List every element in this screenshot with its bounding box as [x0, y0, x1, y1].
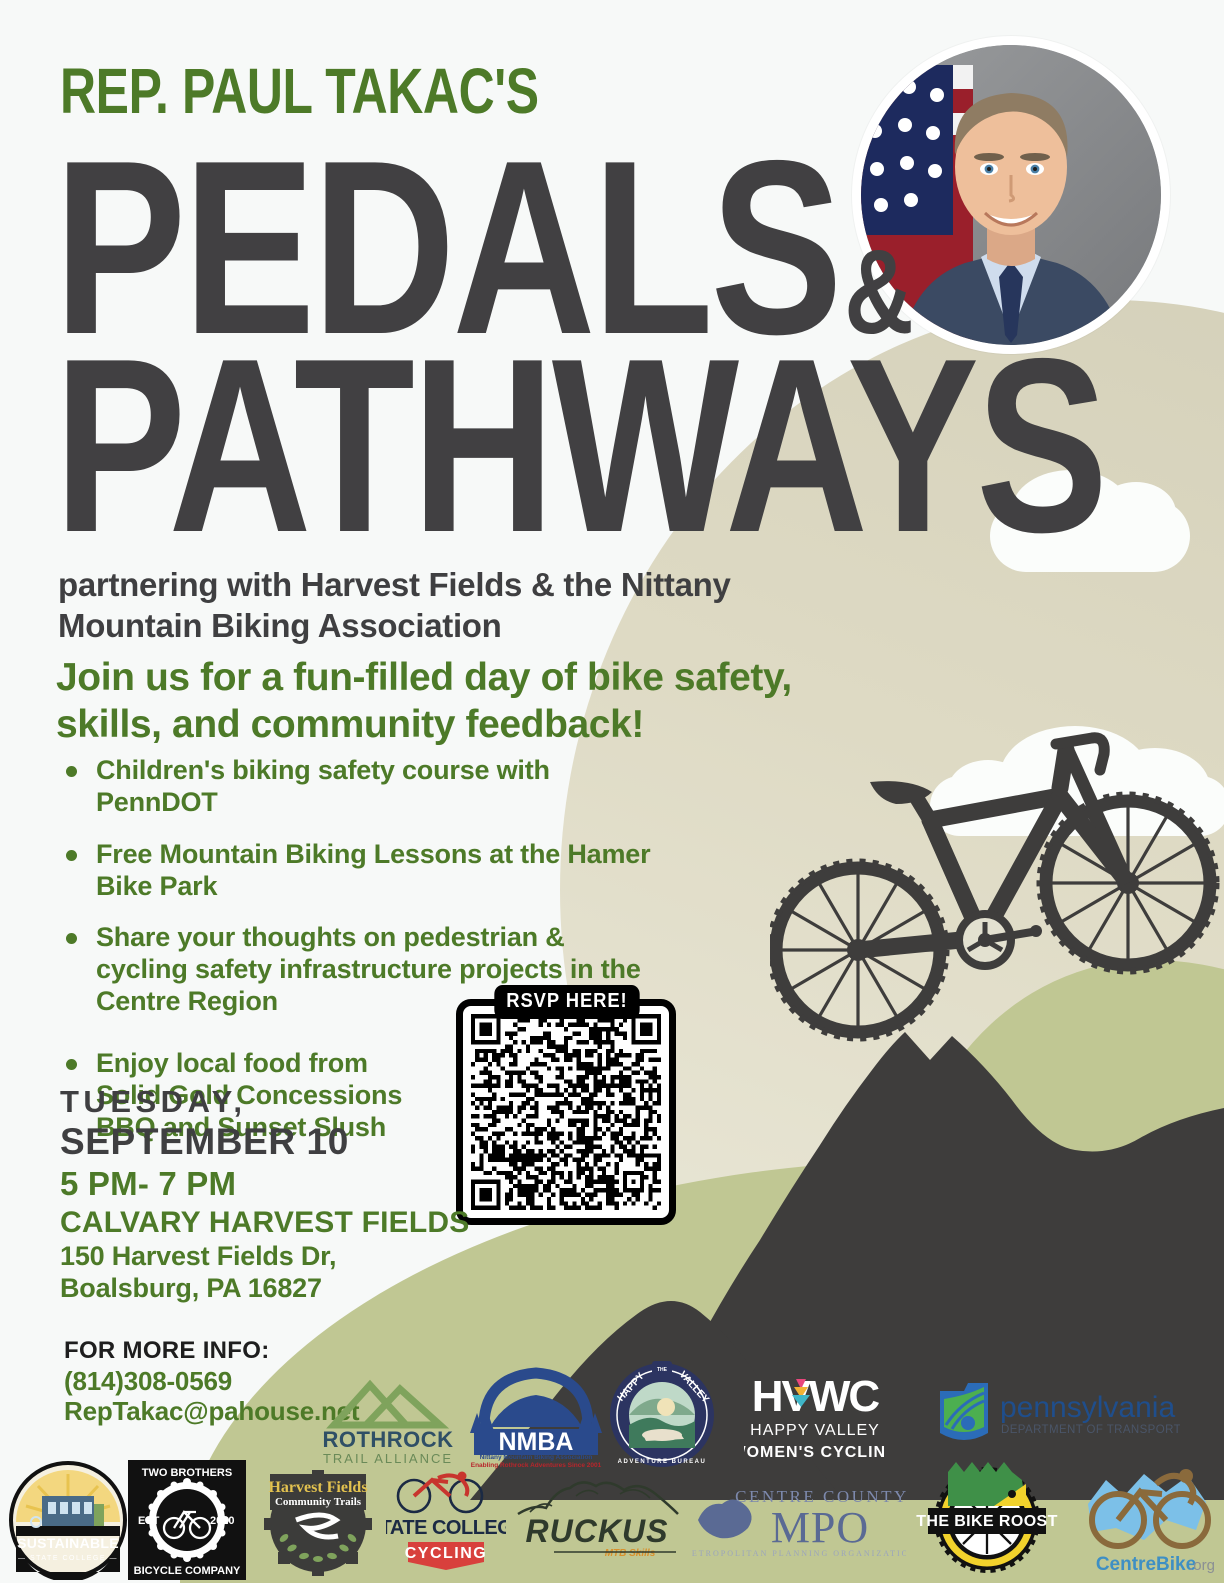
logo-tbbc-est-year: 2020 — [210, 1515, 234, 1527]
partnering-text: partnering with Harvest Fields & the Nit… — [58, 565, 858, 647]
address-line-2: Boalsburg, PA 16827 — [60, 1273, 500, 1305]
title-line-2: PATHWAYS — [54, 346, 1105, 544]
logo-penndot-name: pennsylvania — [1000, 1391, 1175, 1424]
logo-centrebike: CentreBike .org — [1070, 1458, 1222, 1580]
logo-nmba: NMBA Nittany Mountain Biking Association… — [466, 1361, 606, 1469]
logo-centrebike-tld: .org — [1189, 1557, 1215, 1574]
event-datetime: TUESDAY, SEPTEMBER 10 5 PM- 7 PM — [60, 1082, 490, 1207]
sponsor-row-top: ROTHROCK TRAIL ALLIANCE NMBA Nittany Mou… — [0, 1355, 1224, 1475]
logo-happy-valley-adventure-bureau: THE HAPPY VALLEY ADVENTURE BUREAU — [604, 1355, 720, 1471]
logo-hvab-top: THE — [657, 1367, 668, 1373]
logo-harvest-fields-community-trails: Harvest Fields Community Trails — [256, 1466, 380, 1576]
logo-state-college-cycling: STATE COLLEGE CYCLING — [386, 1470, 506, 1574]
logo-scc-name: STATE COLLEGE — [386, 1517, 506, 1539]
address-line-1: 150 Harvest Fields Dr, — [60, 1241, 500, 1273]
logo-ssc-name: SUSTAINABLE — [17, 1535, 119, 1551]
logo-tbbc-top: TWO BROTHERS — [142, 1467, 232, 1479]
logo-rothrock: ROTHROCK TRAIL ALLIANCE — [308, 1367, 468, 1467]
logo-hfct-name: Harvest Fields — [268, 1479, 367, 1496]
join-us-text: Join us for a fun-filled day of bike saf… — [56, 655, 886, 749]
logo-tbbc-bottom: BICYCLE COMPANY — [134, 1565, 241, 1577]
event-time: 5 PM- 7 PM — [60, 1162, 490, 1207]
page-title: PEDALS& PATHWAYS — [54, 148, 1224, 545]
logo-two-brothers-bicycle-company: TWO BROTHERS BICYCLE COMPANY EST 2020 — [128, 1460, 246, 1580]
logo-ruckus-name: RUCKUS — [526, 1513, 669, 1549]
logo-hvwc-line-1: HAPPY VALLEY — [750, 1422, 880, 1439]
logo-tbbc-est-label: EST — [138, 1515, 160, 1527]
venue-name: CALVARY HARVEST FIELDS — [60, 1205, 500, 1241]
event-day: TUESDAY, — [60, 1082, 490, 1122]
sponsor-row-bottom: SUSTAINABLE — STATE COLLEGE — — [0, 1458, 1224, 1583]
logo-mpo-tagline: METROPOLITAN PLANNING ORGANIZATION — [690, 1549, 906, 1558]
logo-hvwc: HVWC HAPPY VALLEY WOMEN'S CYCLING — [744, 1367, 886, 1467]
logo-sustainable-state-college: SUSTAINABLE — STATE COLLEGE — — [8, 1460, 128, 1580]
logo-ssc-tagline: — STATE COLLEGE — — [18, 1555, 118, 1562]
logo-ruckus: RUCKUS MTB Skills — [512, 1476, 682, 1566]
list-item: Free Mountain Biking Lessons at the Hame… — [58, 839, 658, 903]
logo-ruckus-tagline: MTB Skills — [605, 1548, 656, 1559]
logo-centrebike-name: CentreBike — [1096, 1554, 1196, 1575]
list-item: Share your thoughts on pedestrian & cycl… — [58, 922, 658, 1018]
logo-penndot: pennsylvania DEPARTMENT OF TRANSPORTATIO… — [930, 1375, 1180, 1455]
logo-hfct-tagline: Community Trails — [275, 1496, 362, 1508]
logo-rothrock-name: ROTHROCK — [322, 1427, 453, 1452]
logo-nmba-name: NMBA — [499, 1428, 574, 1456]
logo-centre-county-mpo: CENTRE COUNTY MPO METROPOLITAN PLANNING … — [690, 1476, 906, 1560]
list-item: Children's biking safety course with Pen… — [58, 755, 658, 819]
logo-hvwc-name: HVWC — [752, 1372, 880, 1421]
logo-mpo-name: MPO — [771, 1503, 869, 1552]
logo-scc-tagline: CYCLING — [405, 1545, 488, 1562]
event-date: SEPTEMBER 10 — [60, 1122, 490, 1163]
logo-bike-roost-name: THE BIKE ROOST — [916, 1513, 1058, 1530]
event-location: CALVARY HARVEST FIELDS 150 Harvest Field… — [60, 1205, 500, 1305]
logo-penndot-tagline: DEPARTMENT OF TRANSPORTATION — [1001, 1424, 1180, 1436]
event-flyer: REP. PAUL TAKAC'S PEDALS& PATHWAYS partn… — [0, 0, 1224, 1583]
logo-the-bike-roost: THE BIKE ROOST — [912, 1458, 1062, 1580]
